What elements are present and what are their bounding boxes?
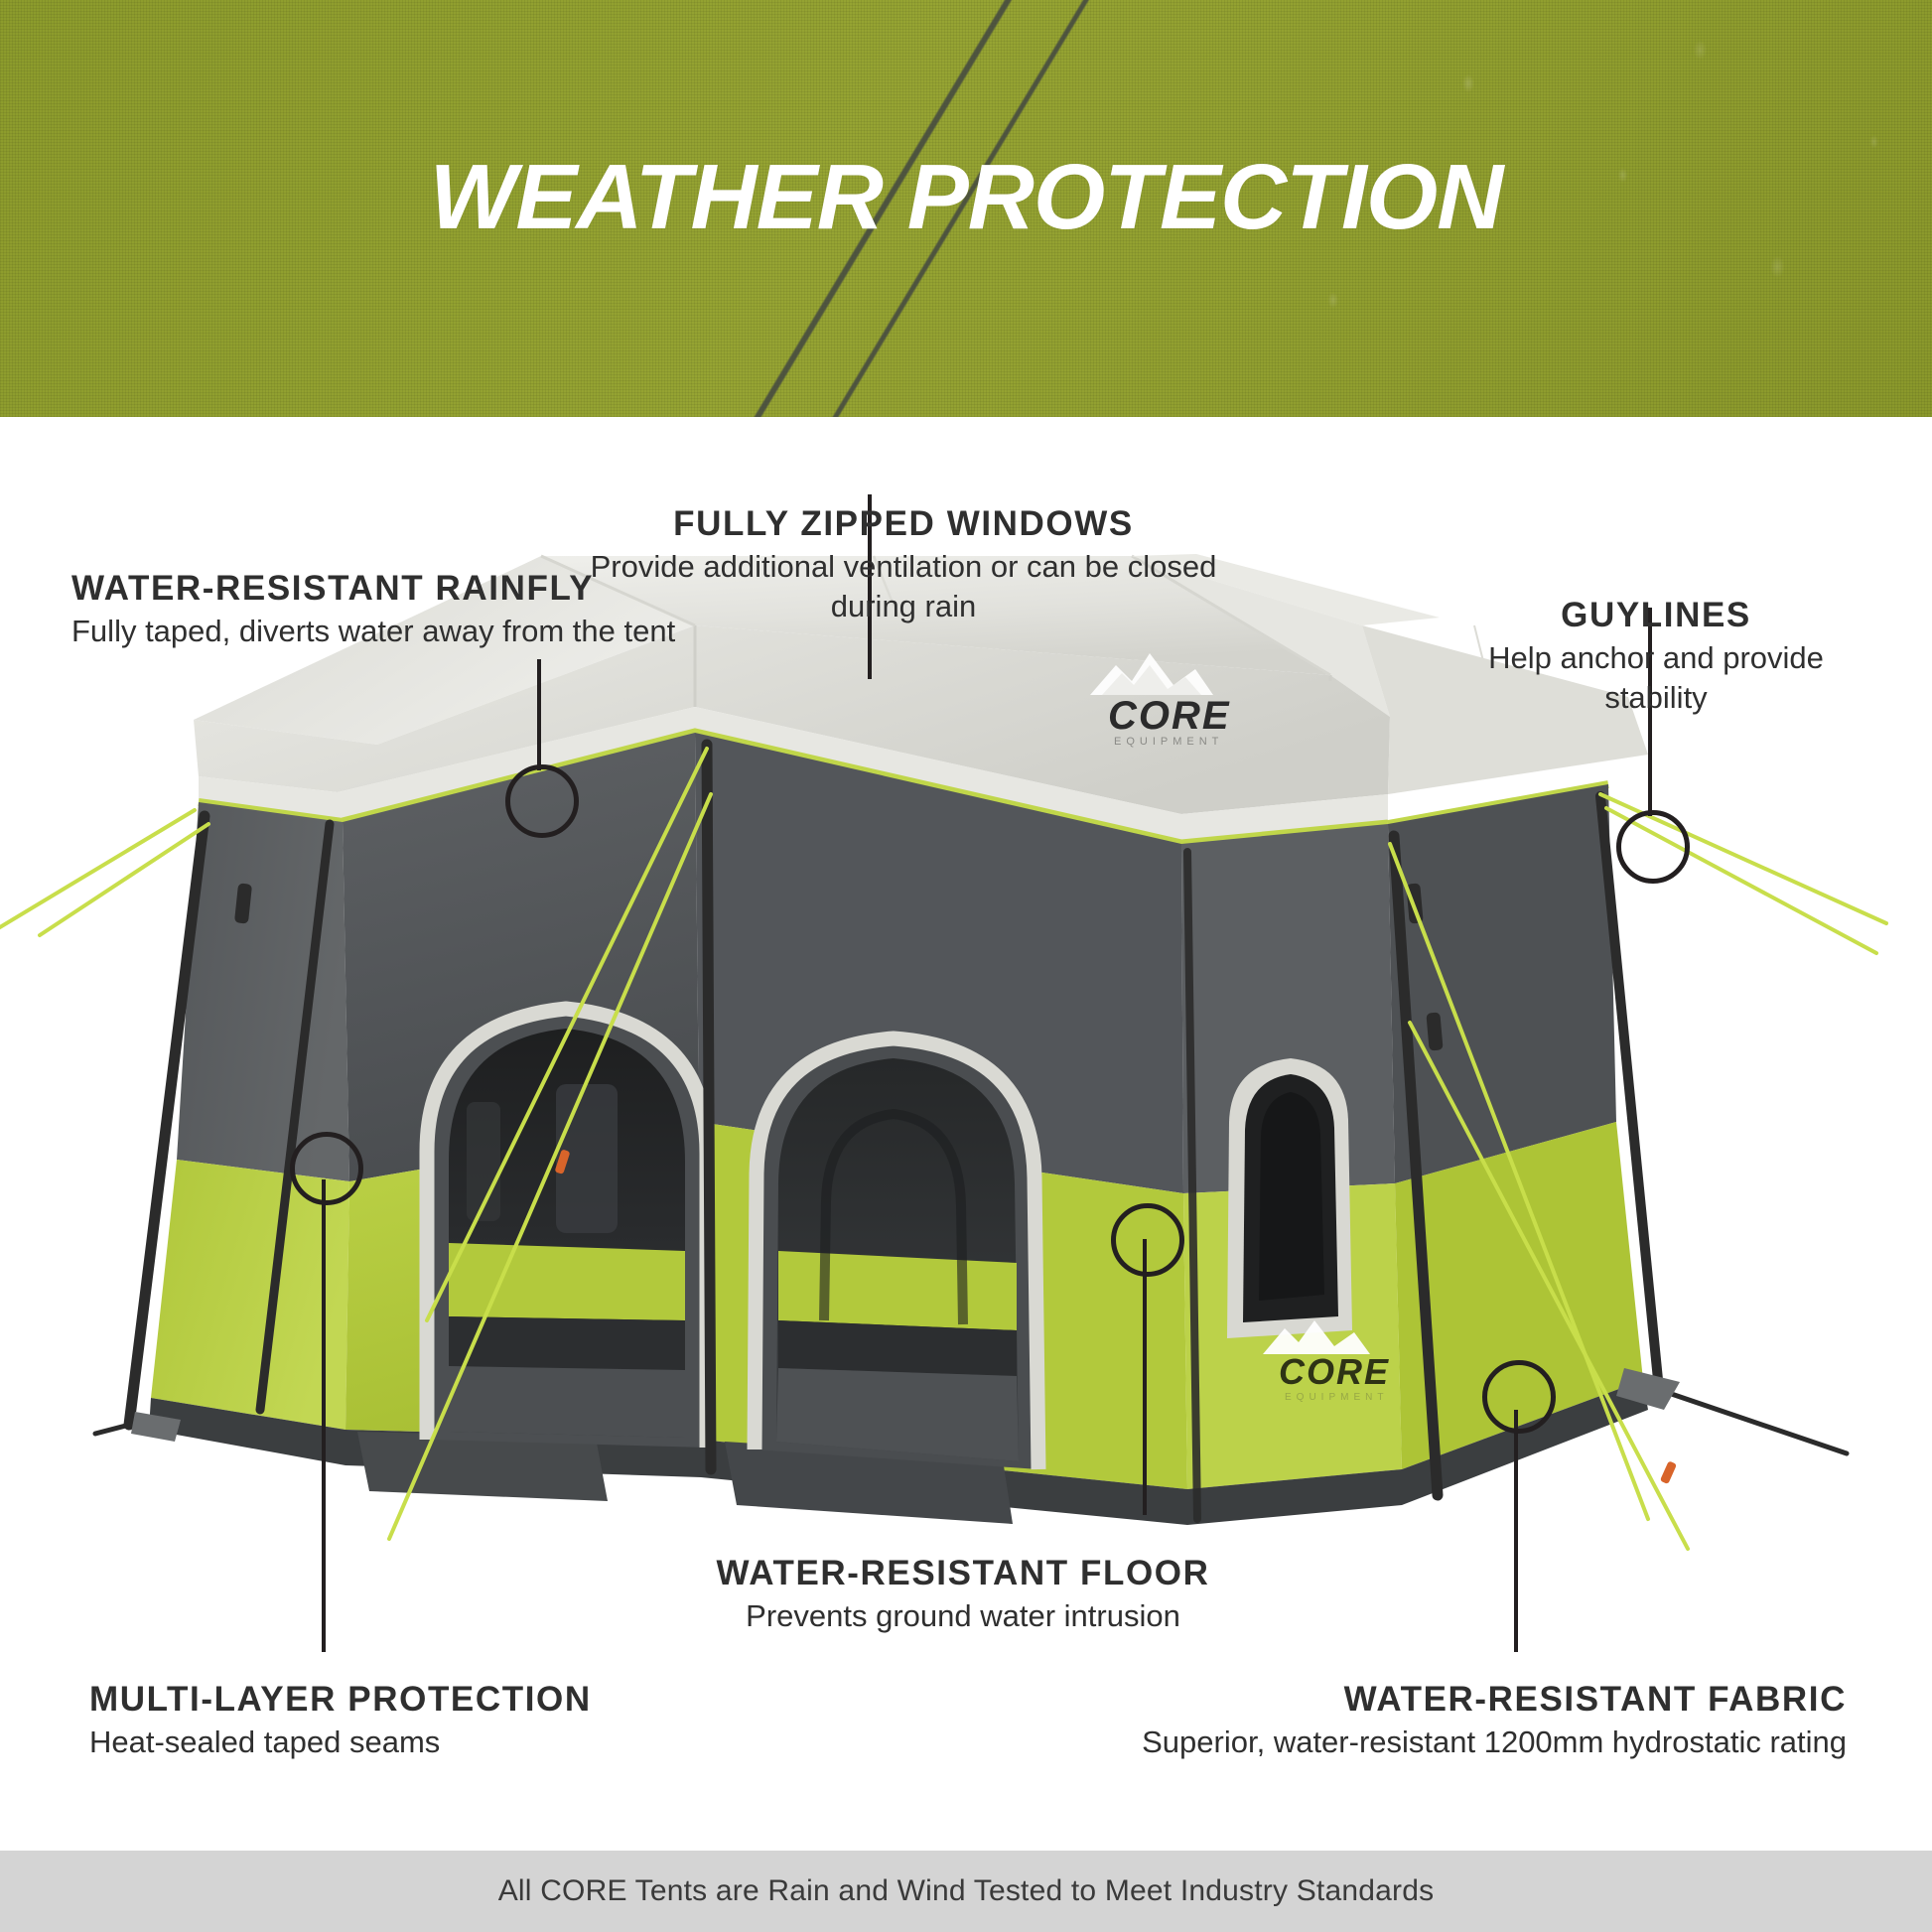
callout-multilayer: MULTI-LAYER PROTECTION Heat-sealed taped… <box>89 1680 764 1762</box>
infographic-canvas: WEATHER PROTECTION <box>0 0 1932 1932</box>
callout-windows-subtitle: Provide additional ventilation or can be… <box>556 547 1251 625</box>
callout-ring-fabric <box>1482 1360 1556 1434</box>
leader-line-floor <box>1143 1239 1147 1515</box>
footer-text: All CORE Tents are Rain and Wind Tested … <box>498 1874 1435 1908</box>
callout-ring-multilayer <box>290 1132 363 1205</box>
svg-text:EQUIPMENT: EQUIPMENT <box>1285 1392 1388 1403</box>
svg-text:CORE: CORE <box>1108 694 1231 738</box>
callout-ring-guylines <box>1616 810 1690 884</box>
callout-multilayer-subtitle: Heat-sealed taped seams <box>89 1723 764 1761</box>
leader-line-multilayer <box>322 1179 326 1652</box>
callout-fabric: WATER-RESISTANT FABRIC Superior, water-r… <box>1112 1680 1847 1762</box>
callout-windows-title: FULLY ZIPPED WINDOWS <box>556 504 1251 543</box>
callout-ring-rainfly <box>505 764 579 838</box>
callout-guylines: GUYLINES Help anchor and provide stabili… <box>1448 596 1864 717</box>
footer-bar: All CORE Tents are Rain and Wind Tested … <box>0 1851 1932 1932</box>
callout-guylines-subtitle: Help anchor and provide stability <box>1448 638 1864 717</box>
leader-line-fabric <box>1514 1410 1518 1652</box>
callout-fabric-title: WATER-RESISTANT FABRIC <box>1112 1680 1847 1719</box>
callout-guylines-title: GUYLINES <box>1448 596 1864 634</box>
svg-text:EQUIPMENT: EQUIPMENT <box>1114 736 1223 748</box>
callout-fabric-subtitle: Superior, water-resistant 1200mm hydrost… <box>1112 1723 1847 1761</box>
callout-floor-title: WATER-RESISTANT FLOOR <box>616 1554 1311 1592</box>
page-title: WEATHER PROTECTION <box>0 151 1932 243</box>
callout-multilayer-title: MULTI-LAYER PROTECTION <box>89 1680 764 1719</box>
callout-floor-subtitle: Prevents ground water intrusion <box>616 1596 1311 1635</box>
callout-floor: WATER-RESISTANT FLOOR Prevents ground wa… <box>616 1554 1311 1636</box>
callout-windows: FULLY ZIPPED WINDOWS Provide additional … <box>556 504 1251 625</box>
svg-text:CORE: CORE <box>1279 1351 1390 1392</box>
leader-line-rainfly <box>537 659 541 770</box>
callout-ring-floor <box>1111 1203 1184 1277</box>
